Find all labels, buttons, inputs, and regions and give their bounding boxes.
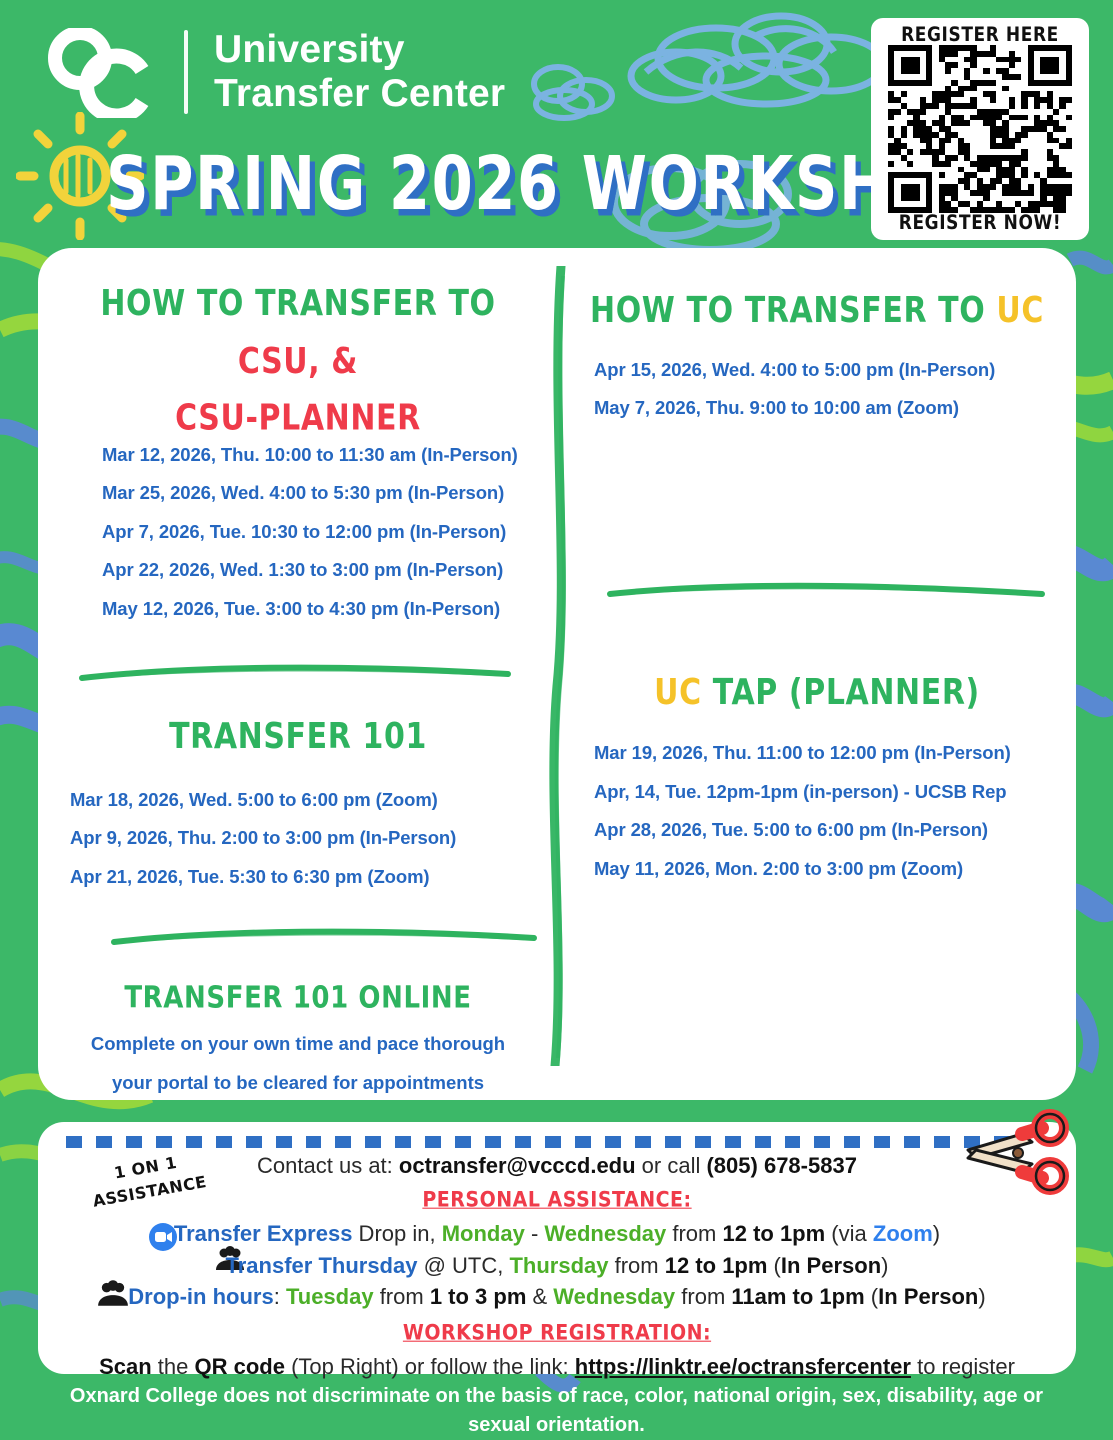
list-item: Apr, 14, Tue. 12pm-1pm (in-person) - UCS… (574, 773, 1060, 812)
section-title-uctap: UC TAP (PLANNER) (574, 670, 1060, 718)
dashed-cut-line (66, 1136, 1010, 1148)
list-item: May 12, 2026, Tue. 3:00 to 4:30 pm (In-P… (56, 590, 540, 629)
section-title-uc: HOW TO TRANSFER TO UC (574, 288, 1060, 336)
contact-row-transfer-express: Transfer Express Drop in, Monday - Wedne… (38, 1218, 1076, 1249)
list-item: Apr 15, 2026, Wed. 4:00 to 5:00 pm (In-P… (574, 351, 1060, 390)
cloud-doodle-small (520, 52, 630, 134)
row3-end: ) (978, 1284, 985, 1309)
uctap-session-list: Mar 19, 2026, Thu. 11:00 to 12:00 pm (In… (574, 734, 1060, 888)
qr-register-card[interactable]: REGISTER HERE REGISTER NOW! (871, 18, 1089, 240)
section-title-transfer101: TRANSFER 101 (56, 714, 540, 762)
reg-qr: QR code (195, 1354, 285, 1379)
qr-bottom-label: REGISTER NOW! (899, 212, 1061, 235)
left-column: HOW TO TRANSFER TO CSU, & CSU-PLANNER Ma… (38, 248, 548, 1100)
reg-mid3: to register (911, 1354, 1015, 1379)
workshop-registration-heading: WORKSHOP REGISTRATION: (403, 1319, 711, 1349)
contact-line-email: Contact us at: octransfer@vcccd.edu or c… (38, 1150, 1076, 1181)
contact-row-drop-in-hours: Drop-in hours: Tuesday from 1 to 3 pm & … (38, 1281, 1076, 1312)
uc-title-part1: HOW TO TRANSFER TO (590, 290, 996, 331)
row3-mid1: from (374, 1284, 430, 1309)
row2-day1: Thursday (509, 1253, 608, 1278)
section-title-transfer101-online: TRANSFER 101 ONLINE (56, 978, 540, 1019)
contact-phone[interactable]: (805) 678-5837 (706, 1153, 856, 1178)
list-item: Mar 19, 2026, Thu. 11:00 to 12:00 pm (In… (574, 734, 1060, 773)
row1-mid3: (via (825, 1221, 873, 1246)
row2-mid3: ( (767, 1253, 780, 1278)
list-item: Apr 28, 2026, Tue. 5:00 to 6:00 pm (In-P… (574, 811, 1060, 850)
row3-time1: 1 to 3 pm (430, 1284, 527, 1309)
workshop-registration-heading-row: WORKSHOP REGISTRATION: (38, 1316, 1076, 1347)
note-line-2: your portal to be cleared for appointmen… (112, 1072, 484, 1093)
brush-divider-3 (606, 580, 1046, 602)
uctap-title-highlight: UC (654, 672, 713, 713)
list-item: Apr 21, 2026, Tue. 5:30 to 6:30 pm (Zoom… (56, 858, 540, 897)
row1-end: ) (933, 1221, 940, 1246)
row2-mode: In Person (781, 1253, 881, 1278)
reg-scan: Scan (99, 1354, 152, 1379)
list-item: Mar 25, 2026, Wed. 4:00 to 5:30 pm (In-P… (56, 474, 540, 513)
list-item: May 11, 2026, Mon. 2:00 to 3:00 pm (Zoom… (574, 850, 1060, 889)
qr-top-label: REGISTER HERE (901, 24, 1059, 47)
row1-mid1: Drop in, (352, 1221, 441, 1246)
registration-link[interactable]: https://linktr.ee/octransfercenter (575, 1354, 911, 1379)
csu-title-highlight: CSU, & (238, 340, 358, 381)
list-item: Apr 22, 2026, Wed. 1:30 to 3:00 pm (In-P… (56, 551, 540, 590)
contact-text-block: Contact us at: octransfer@vcccd.edu or c… (38, 1150, 1076, 1383)
reg-mid1: the (152, 1354, 195, 1379)
list-item: May 7, 2026, Thu. 9:00 to 10:00 am (Zoom… (574, 389, 1060, 428)
logo-row: University Transfer Center (46, 28, 505, 116)
registration-instructions-row: Scan the QR code (Top Right) or follow t… (38, 1351, 1076, 1382)
contact-panel: 1 ON 1 ASSISTANCE Contact us at: octrans… (38, 1122, 1076, 1374)
right-column: HOW TO TRANSFER TO UC Apr 15, 2026, Wed.… (548, 248, 1076, 1100)
uc-session-list: Apr 15, 2026, Wed. 4:00 to 5:00 pm (In-P… (574, 351, 1060, 428)
logo-divider (184, 30, 188, 114)
transfer101-session-list: Mar 18, 2026, Wed. 5:00 to 6:00 pm (Zoom… (56, 781, 540, 897)
personal-assistance-heading: PERSONAL ASSISTANCE: (422, 1186, 691, 1216)
row1-dash: - (525, 1221, 545, 1246)
row2-mid1: @ UTC, (417, 1253, 509, 1278)
csu-title-line2: CSU-PLANNER (175, 398, 421, 439)
row1-day1: Monday (442, 1221, 525, 1246)
row1-mode: Zoom (873, 1221, 933, 1246)
uc-title-highlight: UC (996, 290, 1044, 331)
row3-day2: Wednesday (553, 1284, 675, 1309)
brush-divider-2 (110, 926, 540, 948)
csu-title-part1: HOW TO TRANSFER TO (100, 283, 495, 324)
transfer-thursday-name: Transfer Thursday (226, 1253, 418, 1278)
transfer-express-name: Transfer Express (174, 1221, 353, 1246)
row3-mid3: ( (865, 1284, 878, 1309)
row3-amp: & (526, 1284, 553, 1309)
contact-email[interactable]: octransfer@vcccd.edu (399, 1153, 636, 1178)
row2-mid2: from (609, 1253, 665, 1278)
uctap-title-rest: TAP (PLANNER) (713, 672, 980, 713)
row3-mode: In Person (878, 1284, 978, 1309)
row2-end: ) (881, 1253, 888, 1278)
row3-mid0: : (274, 1284, 286, 1309)
list-item: Apr 9, 2026, Thu. 2:00 to 3:00 pm (In-Pe… (56, 819, 540, 858)
note-line-1: Complete on your own time and pace thoro… (91, 1033, 505, 1054)
brush-divider-1 (78, 662, 518, 684)
row1-day2: Wednesday (544, 1221, 666, 1246)
workshops-card: HOW TO TRANSFER TO CSU, & CSU-PLANNER Ma… (38, 248, 1076, 1100)
contact-row-transfer-thursday: Transfer Thursday @ UTC, Thursday from 1… (38, 1250, 1076, 1281)
row3-day1: Tuesday (286, 1284, 374, 1309)
row3-time2: 11am to 1pm (731, 1284, 864, 1309)
csu-session-list: Mar 12, 2026, Thu. 10:00 to 11:30 am (In… (56, 436, 540, 629)
row1-mid2: from (666, 1221, 722, 1246)
org-title: University Transfer Center (214, 28, 505, 115)
qr-code-image[interactable] (888, 45, 1072, 213)
nondiscrimination-footer: Oxnard College does not discriminate on … (0, 1382, 1113, 1440)
list-item: Apr 7, 2026, Tue. 10:30 to 12:00 pm (In-… (56, 513, 540, 552)
row1-time: 12 to 1pm (722, 1221, 825, 1246)
contact-mid: or call (636, 1153, 707, 1178)
row3-mid2: from (675, 1284, 731, 1309)
list-item: Mar 18, 2026, Wed. 5:00 to 6:00 pm (Zoom… (56, 781, 540, 820)
personal-assistance-heading-row: PERSONAL ASSISTANCE: (38, 1183, 1076, 1214)
oc-logo-icon (46, 28, 158, 116)
transfer101-online-note: Complete on your own time and pace thoro… (56, 1025, 540, 1103)
reg-mid2: (Top Right) or follow the link: (285, 1354, 575, 1379)
contact-prefix: Contact us at: (257, 1153, 399, 1178)
row2-time: 12 to 1pm (665, 1253, 768, 1278)
drop-in-hours-name: Drop-in hours (128, 1284, 273, 1309)
section-title-csu: HOW TO TRANSFER TO CSU, & CSU-PLANNER (56, 276, 540, 448)
